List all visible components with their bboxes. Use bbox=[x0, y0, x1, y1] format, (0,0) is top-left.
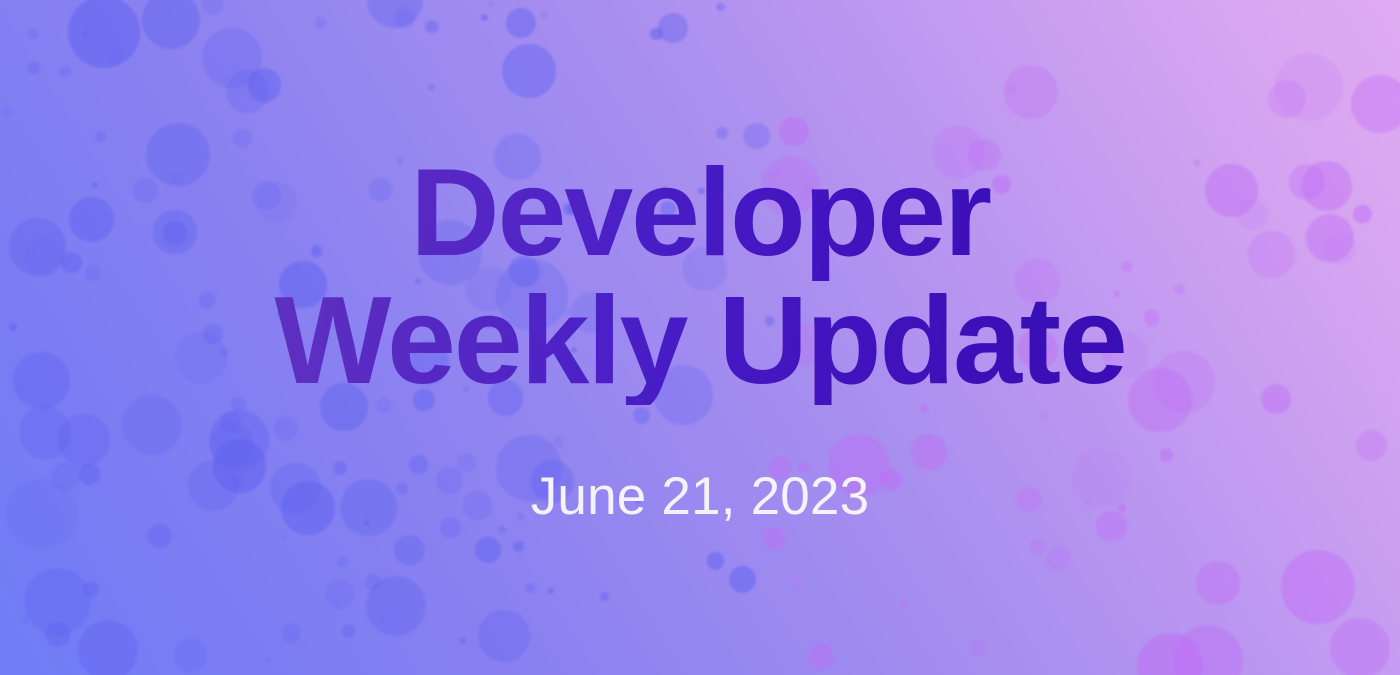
banner-date: June 21, 2023 bbox=[531, 467, 870, 527]
developer-weekly-update-banner: Developer Weekly Update June 21, 2023 bbox=[0, 0, 1400, 675]
page-title: Developer Weekly Update bbox=[274, 149, 1125, 405]
headline-line-2: Weekly Update bbox=[274, 277, 1125, 405]
headline-line-1: Developer bbox=[274, 149, 1125, 277]
banner-content: Developer Weekly Update June 21, 2023 bbox=[0, 0, 1400, 675]
